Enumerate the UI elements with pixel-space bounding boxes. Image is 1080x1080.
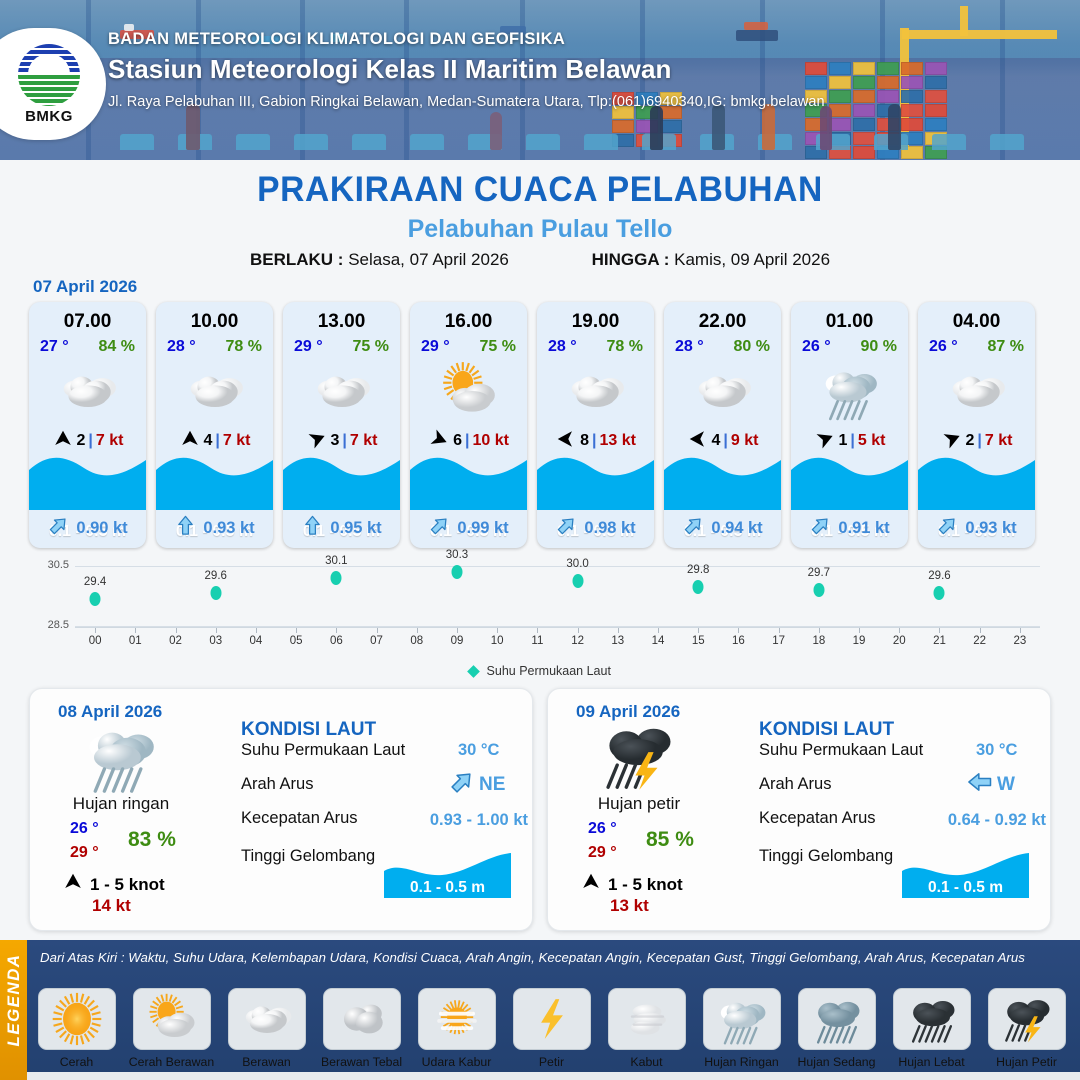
seat-icon bbox=[932, 134, 966, 150]
forecast-card[interactable]: 10.00 28 ° 78 % 4 | 7 kt 0.1 - 0.5 m 0.9… bbox=[156, 302, 273, 548]
gust-speed: 9 kt bbox=[731, 432, 759, 450]
current-row: 0.98 kt bbox=[537, 514, 654, 542]
current-direction-arrow-icon bbox=[936, 514, 959, 542]
container-icon bbox=[901, 118, 923, 131]
sea-surface-temperature-value: 30 °C bbox=[458, 741, 499, 760]
gust-speed: 13 kt bbox=[599, 432, 635, 450]
wave-graphic bbox=[918, 452, 1035, 510]
seat-icon bbox=[410, 134, 444, 150]
forecast-card[interactable]: 01.00 26 ° 90 % 1 | 5 kt 0.1 - 0.5 m 0.9 bbox=[791, 302, 908, 548]
hujan-lebat-icon bbox=[893, 988, 971, 1050]
valid-from-group: BERLAKU : Selasa, 07 April 2026 bbox=[250, 250, 514, 269]
chart-x-tick bbox=[859, 628, 860, 633]
air-temperature: 26 ° bbox=[929, 338, 958, 356]
wind-row: 4 | 7 kt bbox=[156, 429, 273, 453]
berawan-icon bbox=[664, 363, 781, 419]
forecast-card[interactable]: 22.00 28 ° 80 % 4 | 9 kt 0.1 - 0.5 m 0.9… bbox=[664, 302, 781, 548]
container-icon bbox=[829, 104, 851, 117]
sea-condition-label: Tinggi Gelombang bbox=[241, 847, 375, 866]
wind-direction-arrow-icon bbox=[814, 428, 836, 455]
hujan-ringan-icon bbox=[60, 722, 180, 790]
wind-direction-arrow-icon bbox=[555, 428, 577, 455]
forecast-card[interactable]: 16.00 29 ° 75 % 6 | 10 kt 0.1 - 0.5 m 0.… bbox=[410, 302, 527, 548]
chart-x-tick-label: 03 bbox=[209, 635, 222, 647]
wind-row: 3 | 7 kt bbox=[283, 429, 400, 453]
air-temperature: 28 ° bbox=[675, 338, 704, 356]
chart-data-label: 29.8 bbox=[687, 564, 709, 576]
current-speed: 0.93 kt bbox=[203, 519, 254, 538]
temp-humidity-row: 28 ° 80 % bbox=[664, 336, 781, 356]
current-speed: 0.95 kt bbox=[330, 519, 381, 538]
forecast-card[interactable]: 04.00 26 ° 87 % 2 | 7 kt 0.1 - 0.5 m 0.9… bbox=[918, 302, 1035, 548]
chart-x-tick-label: 10 bbox=[491, 635, 504, 647]
chart-x-tick-label: 21 bbox=[933, 635, 946, 647]
wind-row: 2 | 7 kt bbox=[29, 429, 146, 453]
current-row: 0.95 kt bbox=[283, 514, 400, 542]
wind-row: 6 | 10 kt bbox=[410, 429, 527, 453]
gust-speed: 10 kt bbox=[472, 432, 508, 450]
hujan-petir-icon bbox=[578, 722, 698, 790]
container-icon bbox=[901, 76, 923, 89]
current-speed: 0.98 kt bbox=[584, 519, 635, 538]
forecast-card[interactable]: 19.00 28 ° 78 % 8 | 13 kt 0.1 - 0.5 m 0.… bbox=[537, 302, 654, 548]
seat-icon bbox=[526, 134, 560, 150]
chart-x-tick-label: 17 bbox=[772, 635, 785, 647]
temp-humidity-row: 28 ° 78 % bbox=[537, 336, 654, 356]
chart-x-tick bbox=[980, 628, 981, 633]
wind-row: 2 | 7 kt bbox=[918, 429, 1035, 453]
chart-data-point bbox=[693, 580, 704, 594]
chart-x-tick bbox=[578, 628, 579, 633]
current-direction-value: W bbox=[997, 774, 1015, 796]
wind-row: 4 | 9 kt bbox=[664, 429, 781, 453]
chart-data-label: 29.7 bbox=[808, 567, 830, 579]
container-icon bbox=[877, 62, 899, 75]
wave-graphic bbox=[29, 452, 146, 510]
forecast-time: 22.00 bbox=[664, 311, 781, 333]
temp-humidity-row: 29 ° 75 % bbox=[410, 336, 527, 356]
chart-x-tick-label: 15 bbox=[692, 635, 705, 647]
wind-direction-arrow-icon bbox=[62, 871, 84, 898]
current-direction-arrow-icon bbox=[301, 514, 324, 542]
container-icon bbox=[612, 120, 634, 133]
chart-x-tick bbox=[95, 628, 96, 633]
chart-data-point bbox=[813, 583, 824, 597]
forecast-card[interactable]: 07.00 27 ° 84 % 2 | 7 kt 0.1 - 0.5 m 0.9… bbox=[29, 302, 146, 548]
container-icon bbox=[901, 62, 923, 75]
legend-item-label: Hujan Petir bbox=[996, 1055, 1057, 1069]
chart-x-tick-label: 13 bbox=[611, 635, 624, 647]
page-title: PRAKIRAAN CUACA PELABUHAN bbox=[22, 170, 1059, 210]
wind-speed: 3 bbox=[331, 432, 340, 450]
forecast-date-label: 07 April 2026 bbox=[33, 277, 137, 297]
hujan-ringan-icon bbox=[703, 988, 781, 1050]
wind-separator: | bbox=[88, 432, 92, 450]
wind-direction-arrow-icon bbox=[941, 428, 963, 455]
gust-speed: 5 kt bbox=[858, 432, 886, 450]
petir-icon bbox=[513, 988, 591, 1050]
container-icon bbox=[901, 104, 923, 117]
wind-row: 8 | 13 kt bbox=[537, 429, 654, 453]
temp-humidity-row: 26 ° 87 % bbox=[918, 336, 1035, 356]
container-icon bbox=[925, 76, 947, 89]
wind-row: 1 - 5 knot bbox=[580, 871, 683, 898]
legend-item[interactable]: Hujan Lebat bbox=[886, 988, 977, 1069]
sea-surface-temperature-chart: Suhu Permukaan Laut 30.528.5000102030405… bbox=[29, 556, 1051, 681]
current-direction-group: W bbox=[966, 768, 1015, 801]
chart-data-point bbox=[331, 571, 342, 585]
chart-data-point bbox=[90, 592, 101, 606]
temp-humidity-row: 26 ° 90 % bbox=[791, 336, 908, 356]
wind-separator: | bbox=[465, 432, 469, 450]
chart-legend: Suhu Permukaan Laut bbox=[29, 664, 1051, 678]
legend-item-label: Kabut bbox=[630, 1055, 662, 1069]
seat-icon bbox=[294, 134, 328, 150]
container-icon bbox=[829, 118, 851, 131]
sea-surface-temperature-value: 30 °C bbox=[976, 741, 1017, 760]
chart-x-tick-label: 22 bbox=[973, 635, 986, 647]
legend-item[interactable]: Berawan Tebal bbox=[316, 988, 407, 1069]
wind-separator: | bbox=[850, 432, 854, 450]
wind-direction-arrow-icon bbox=[580, 871, 602, 898]
chart-data-point bbox=[934, 586, 945, 600]
forecast-time: 10.00 bbox=[156, 311, 273, 333]
humidity: 90 % bbox=[861, 338, 897, 356]
temp-max: 29 ° bbox=[70, 844, 99, 862]
berawan-icon bbox=[537, 363, 654, 419]
station-address: Jl. Raya Pelabuhan III, Gabion Ringkai B… bbox=[108, 94, 825, 110]
chart-x-tick-label: 19 bbox=[853, 635, 866, 647]
chart-data-label: 29.6 bbox=[928, 570, 950, 582]
current-direction-arrow-icon bbox=[47, 514, 70, 542]
cerah-berawan-icon bbox=[410, 363, 527, 419]
chart-y-tick-label: 30.5 bbox=[29, 559, 69, 571]
chart-data-point bbox=[451, 565, 462, 579]
crane-boom bbox=[902, 30, 1057, 39]
legend-item[interactable]: Kabut bbox=[601, 988, 692, 1069]
wave-graphic bbox=[537, 452, 654, 510]
current-row: 0.93 kt bbox=[156, 514, 273, 542]
hourly-forecast-strip: 07.00 27 ° 84 % 2 | 7 kt 0.1 - 0.5 m 0.9… bbox=[29, 302, 1051, 548]
wave-graphic bbox=[156, 452, 273, 510]
chart-x-tick bbox=[256, 628, 257, 633]
air-temperature: 28 ° bbox=[548, 338, 577, 356]
current-row: 0.94 kt bbox=[664, 514, 781, 542]
udara-kabur-icon bbox=[418, 988, 496, 1050]
humidity: 75 % bbox=[480, 338, 516, 356]
legend-item-label: Petir bbox=[539, 1055, 564, 1069]
humidity: 75 % bbox=[353, 338, 389, 356]
forecast-time: 04.00 bbox=[918, 311, 1035, 333]
chart-x-tick-label: 14 bbox=[652, 635, 665, 647]
humidity: 87 % bbox=[988, 338, 1024, 356]
chart-data-point bbox=[572, 574, 583, 588]
humidity: 84 % bbox=[99, 338, 135, 356]
chart-x-tick-label: 16 bbox=[732, 635, 745, 647]
chart-x-tick-label: 07 bbox=[370, 635, 383, 647]
temp-humidity-row: 27 ° 84 % bbox=[29, 336, 146, 356]
wind-range: 1 - 5 knot bbox=[608, 875, 683, 895]
current-direction-arrow-icon bbox=[809, 514, 832, 542]
container-icon bbox=[901, 90, 923, 103]
container-icon bbox=[829, 76, 851, 89]
legend-item[interactable]: Petir bbox=[506, 988, 597, 1069]
chart-x-tick-label: 00 bbox=[89, 635, 102, 647]
legend-item[interactable]: Hujan Ringan bbox=[696, 988, 787, 1069]
container-icon bbox=[829, 62, 851, 75]
cerah-berawan-icon bbox=[133, 988, 211, 1050]
person-silhouette bbox=[712, 104, 725, 150]
sea-condition-label: Kecepatan Arus bbox=[759, 809, 876, 828]
current-speed: 0.91 kt bbox=[838, 519, 889, 538]
gust-speed: 7 kt bbox=[96, 432, 124, 450]
chart-x-tick-label: 04 bbox=[250, 635, 263, 647]
air-temperature: 26 ° bbox=[802, 338, 831, 356]
bmkg-logo-emblem bbox=[18, 44, 80, 106]
weather-condition: Hujan ringan bbox=[30, 794, 212, 814]
chart-x-tick-label: 12 bbox=[571, 635, 584, 647]
container-icon bbox=[853, 104, 875, 117]
valid-to-value: Kamis, 09 April 2026 bbox=[674, 250, 830, 269]
kabut-icon bbox=[608, 988, 686, 1050]
sea-condition-label: Tinggi Gelombang bbox=[759, 847, 893, 866]
legend-item[interactable]: Hujan Sedang bbox=[791, 988, 882, 1069]
valid-to-group: HINGGA : Kamis, 09 April 2026 bbox=[592, 250, 830, 269]
current-speed: 0.99 kt bbox=[457, 519, 508, 538]
wind-direction-arrow-icon bbox=[306, 428, 328, 455]
current-row: 0.93 kt bbox=[918, 514, 1035, 542]
chart-y-tick-label: 28.5 bbox=[29, 619, 69, 631]
chart-x-tick bbox=[216, 628, 217, 633]
legend-item-label: Cerah bbox=[60, 1055, 94, 1069]
seat-icon bbox=[352, 134, 386, 150]
page-subtitle: Pelabuhan Pulau Tello bbox=[0, 215, 1080, 244]
current-direction-arrow-icon bbox=[555, 514, 578, 542]
wind-separator: | bbox=[592, 432, 596, 450]
current-row: 0.91 kt bbox=[791, 514, 908, 542]
hujan-sedang-icon bbox=[798, 988, 876, 1050]
wind-separator: | bbox=[723, 432, 727, 450]
chart-x-tick bbox=[417, 628, 418, 633]
chart-x-tick bbox=[497, 628, 498, 633]
current-direction-arrow-icon bbox=[682, 514, 705, 542]
current-direction-arrow-icon bbox=[448, 768, 476, 801]
legend-item[interactable]: Cerah Berawan bbox=[126, 988, 217, 1069]
wave-graphic bbox=[410, 452, 527, 510]
berawan-icon bbox=[918, 363, 1035, 419]
container-icon bbox=[925, 104, 947, 117]
current-row: 0.99 kt bbox=[410, 514, 527, 542]
container-icon bbox=[853, 132, 875, 145]
chart-x-tick-label: 02 bbox=[169, 635, 182, 647]
wave-graphic bbox=[664, 452, 781, 510]
seat-icon bbox=[584, 134, 618, 150]
validity-row: BERLAKU : Selasa, 07 April 2026 HINGGA :… bbox=[0, 250, 1080, 270]
person-silhouette bbox=[762, 104, 775, 150]
legend-item-label: Hujan Sedang bbox=[798, 1055, 876, 1069]
wave-graphic bbox=[791, 452, 908, 510]
chart-x-tick-label: 23 bbox=[1013, 635, 1026, 647]
legend-item-label: Berawan Tebal bbox=[321, 1055, 402, 1069]
valid-from-value: Selasa, 07 April 2026 bbox=[348, 250, 509, 269]
logo-green-stripes bbox=[18, 75, 80, 106]
wind-speed: 4 bbox=[204, 432, 213, 450]
person-silhouette bbox=[186, 104, 200, 150]
chart-data-label: 29.4 bbox=[84, 576, 106, 588]
sea-condition-title: KONDISI LAUT bbox=[759, 719, 894, 741]
chart-x-tick bbox=[698, 628, 699, 633]
berawan-tebal-icon bbox=[323, 988, 401, 1050]
daily-forecast-panels: 08 April 2026 Hujan ringan 26 ° 29 ° 83 … bbox=[29, 688, 1051, 931]
chart-x-tick bbox=[899, 628, 900, 633]
gust-speed: 13 kt bbox=[610, 896, 649, 916]
current-speed: 0.90 kt bbox=[76, 519, 127, 538]
legend-item-label: Hujan Ringan bbox=[704, 1055, 779, 1069]
chart-data-label: 30.3 bbox=[446, 549, 468, 561]
wind-speed: 8 bbox=[580, 432, 589, 450]
chart-x-tick-label: 11 bbox=[531, 635, 543, 647]
legend-bottom-strip bbox=[0, 1072, 1080, 1080]
wind-direction-arrow-icon bbox=[687, 428, 709, 455]
seat-icon bbox=[236, 134, 270, 150]
chart-x-tick bbox=[618, 628, 619, 633]
legend-item-label: Udara Kabur bbox=[422, 1055, 492, 1069]
wind-speed: 6 bbox=[453, 432, 462, 450]
wave-graphic bbox=[283, 452, 400, 510]
gust-speed: 7 kt bbox=[985, 432, 1013, 450]
chart-x-tick bbox=[296, 628, 297, 633]
wind-separator: | bbox=[977, 432, 981, 450]
chart-x-tick bbox=[819, 628, 820, 633]
sea-condition-title: KONDISI LAUT bbox=[241, 719, 376, 741]
wind-row: 1 | 5 kt bbox=[791, 429, 908, 453]
forecast-time: 01.00 bbox=[791, 311, 908, 333]
container-icon bbox=[660, 120, 682, 133]
legend-icon-list: Cerah Cerah Berawan Berawan Berawan Teba… bbox=[31, 988, 1080, 1069]
legend-item-label: Berawan bbox=[242, 1055, 291, 1069]
current-speed: 0.93 kt bbox=[965, 519, 1016, 538]
wind-speed: 2 bbox=[966, 432, 975, 450]
temp-min: 26 ° bbox=[588, 820, 617, 838]
chart-x-tick bbox=[176, 628, 177, 633]
chart-gridline bbox=[75, 566, 1040, 567]
container-icon bbox=[853, 76, 875, 89]
chart-x-tick bbox=[939, 628, 940, 633]
air-temperature: 27 ° bbox=[40, 338, 69, 356]
temp-humidity-row: 28 ° 78 % bbox=[156, 336, 273, 356]
person-silhouette bbox=[888, 104, 901, 150]
temp-min: 26 ° bbox=[70, 820, 99, 838]
weather-condition: Hujan petir bbox=[548, 794, 730, 814]
daily-forecast-panel[interactable]: 08 April 2026 Hujan ringan 26 ° 29 ° 83 … bbox=[29, 688, 533, 931]
gust-speed: 7 kt bbox=[350, 432, 378, 450]
forecast-time: 16.00 bbox=[410, 311, 527, 333]
bmkg-logo-text: BMKG bbox=[25, 108, 73, 125]
wind-speed: 4 bbox=[712, 432, 721, 450]
current-direction-value: NE bbox=[479, 774, 505, 796]
temp-max: 29 ° bbox=[588, 844, 617, 862]
gust-speed: 14 kt bbox=[92, 896, 131, 916]
humidity: 78 % bbox=[607, 338, 643, 356]
current-row: 0.90 kt bbox=[29, 514, 146, 542]
current-speed-value: 0.93 - 1.00 kt bbox=[368, 811, 528, 830]
chart-x-tick bbox=[377, 628, 378, 633]
berawan-icon bbox=[228, 988, 306, 1050]
wind-range: 1 - 5 knot bbox=[90, 875, 165, 895]
chart-x-tick-label: 09 bbox=[451, 635, 464, 647]
wind-direction-arrow-icon bbox=[428, 428, 450, 455]
container-icon bbox=[853, 118, 875, 131]
humidity: 85 % bbox=[646, 828, 694, 852]
current-speed-value: 0.64 - 0.92 kt bbox=[886, 811, 1046, 830]
chart-data-label: 30.1 bbox=[325, 555, 347, 567]
current-direction-group: NE bbox=[448, 768, 505, 801]
current-speed: 0.94 kt bbox=[711, 519, 762, 538]
chart-x-tick bbox=[779, 628, 780, 633]
wind-direction-arrow-icon bbox=[179, 428, 201, 455]
cerah-icon bbox=[38, 988, 116, 1050]
legend-item-label: Cerah Berawan bbox=[129, 1055, 214, 1069]
current-direction-arrow-icon bbox=[174, 514, 197, 542]
wind-separator: | bbox=[342, 432, 346, 450]
container-icon bbox=[877, 90, 899, 103]
chart-legend-marker-icon bbox=[467, 665, 480, 678]
container-icon bbox=[925, 62, 947, 75]
wave-height-value: 0.1 - 0.5 m bbox=[384, 879, 511, 897]
forecast-time: 19.00 bbox=[537, 311, 654, 333]
legend-side-label: LEGENDA bbox=[4, 950, 24, 1050]
chart-x-tick bbox=[537, 628, 538, 633]
chart-x-tick-label: 01 bbox=[129, 635, 142, 647]
legend-item[interactable]: Berawan bbox=[221, 988, 312, 1069]
temp-humidity-row: 29 ° 75 % bbox=[283, 336, 400, 356]
legend-item[interactable]: Udara Kabur bbox=[411, 988, 502, 1069]
crane-tower bbox=[960, 6, 968, 36]
sea-condition-label: Suhu Permukaan Laut bbox=[759, 741, 923, 760]
sea-condition-label: Arah Arus bbox=[241, 775, 313, 794]
forecast-card[interactable]: 13.00 29 ° 75 % 3 | 7 kt 0.1 - 0.5 m 0.9… bbox=[283, 302, 400, 548]
person-silhouette bbox=[820, 106, 832, 150]
humidity: 78 % bbox=[226, 338, 262, 356]
container-icon bbox=[829, 90, 851, 103]
berawan-icon bbox=[29, 363, 146, 419]
chart-data-label: 30.0 bbox=[566, 558, 588, 570]
chart-data-label: 29.6 bbox=[205, 570, 227, 582]
daily-forecast-panel[interactable]: 09 April 2026 Hujan petir 26 ° 29 ° 85 %… bbox=[547, 688, 1051, 931]
chart-x-tick-label: 05 bbox=[290, 635, 303, 647]
sea-condition-label: Arah Arus bbox=[759, 775, 831, 794]
chart-x-tick bbox=[135, 628, 136, 633]
chart-x-tick-label: 20 bbox=[893, 635, 906, 647]
ship-icon bbox=[744, 22, 768, 30]
container-icon bbox=[925, 90, 947, 103]
legend-item[interactable]: Cerah bbox=[31, 988, 122, 1069]
legend-item-label: Hujan Lebat bbox=[898, 1055, 964, 1069]
legend-side-tab: LEGENDA bbox=[0, 940, 27, 1080]
legend-item[interactable]: Hujan Petir bbox=[981, 988, 1072, 1069]
hujan-petir-icon bbox=[988, 988, 1066, 1050]
forecast-time: 13.00 bbox=[283, 311, 400, 333]
valid-to-label: HINGGA : bbox=[592, 250, 670, 269]
person-silhouette bbox=[650, 106, 663, 150]
legend-note: Dari Atas Kiri : Waktu, Suhu Udara, Kele… bbox=[40, 950, 1075, 965]
chart-x-axis bbox=[75, 627, 1040, 628]
person-silhouette bbox=[490, 112, 502, 150]
header-text-block: BADAN METEOROLOGI KLIMATOLOGI DAN GEOFIS… bbox=[108, 30, 825, 110]
page-header: BMKG BADAN METEOROLOGI KLIMATOLOGI DAN G… bbox=[0, 0, 1080, 160]
chart-data-point bbox=[210, 586, 221, 600]
chart-x-tick-label: 08 bbox=[410, 635, 423, 647]
